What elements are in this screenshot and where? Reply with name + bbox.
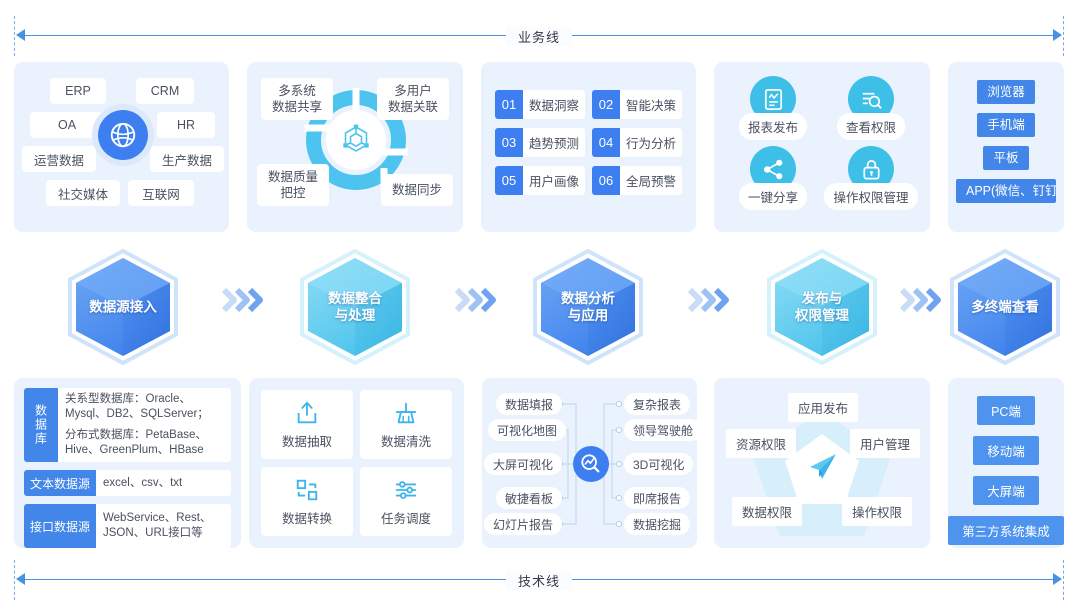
db-value-text-source: excel、csv、txt [96, 470, 231, 496]
db-key-database: 数据库 [24, 388, 58, 462]
db-value-database: 关系型数据库：Oracle、Mysql、DB2、SQLServer； 分布式数据… [58, 388, 231, 462]
analysis-label-03: 趋势预测 [523, 128, 585, 157]
flow-connector-2 [455, 288, 501, 312]
app-pill-big-screen-visual[interactable]: 大屏可视化 [484, 453, 562, 475]
integration-tag-multiuser-relation[interactable]: 多用户 数据关联 [377, 78, 449, 120]
app-pill-slide-report[interactable]: 幻灯片报告 [484, 513, 562, 535]
analysis-item-01[interactable]: 01 数据洞察 [495, 90, 585, 119]
source-tag-hr[interactable]: HR [157, 112, 215, 138]
publish-label-view-permission: 查看权限 [837, 113, 905, 140]
publish-item-view-permission[interactable]: 查看权限 [822, 76, 920, 140]
etl-label-schedule: 任务调度 [381, 508, 431, 527]
analysis-label-01: 数据洞察 [523, 90, 585, 119]
analysis-item-04[interactable]: 04 行为分析 [592, 128, 682, 157]
analysis-label-06: 全局预警 [620, 166, 682, 195]
etl-label-extract: 数据抽取 [282, 431, 332, 450]
business-line-label: 业务线 [506, 27, 572, 46]
analysis-item-03[interactable]: 03 趋势预测 [495, 128, 585, 157]
globe-icon-backdrop [92, 104, 154, 166]
terminal-tag-stack: 浏览器 手机端 平板 APP(微信、钉钉) [948, 80, 1064, 203]
paper-plane-icon [806, 450, 840, 489]
panel-permission-management: 应用发布 资源权限 用户管理 数据权限 操作权限 [714, 378, 930, 548]
source-tag-internet[interactable]: 互联网 [128, 180, 194, 206]
source-tag-erp[interactable]: ERP [50, 78, 106, 104]
axis-tick-right [1063, 16, 1064, 56]
transform-swap-icon [294, 477, 320, 503]
db-row-database[interactable]: 数据库 关系型数据库：Oracle、Mysql、DB2、SQLServer； 分… [24, 388, 231, 462]
etl-label-transform: 数据转换 [282, 508, 332, 527]
analysis-label-02: 智能决策 [620, 90, 682, 119]
app-pill-leader-cockpit[interactable]: 领导驾驶舱 [624, 419, 702, 441]
client-tag-mobile[interactable]: 移动端 [973, 436, 1039, 465]
axis-tick-left [14, 16, 15, 56]
source-tag-crm[interactable]: CRM [136, 78, 194, 104]
panel-database-sources: 数据库 关系型数据库：Oracle、Mysql、DB2、SQLServer； 分… [14, 378, 241, 548]
business-line-axis: 业务线 [14, 16, 1064, 56]
globe-network-icon [98, 110, 148, 160]
arrow-left-icon-bottom [16, 573, 25, 585]
integration-tag-quality-control[interactable]: 数据质量 把控 [257, 164, 329, 206]
panel-data-integration: 多系统 数据共享 多用户 数据关联 数据质量 把控 数据同步 [247, 62, 463, 232]
upload-box-icon [294, 400, 320, 426]
terminal-tag-tablet[interactable]: 平板 [983, 146, 1028, 170]
integration-tag-multisystem-share[interactable]: 多系统 数据共享 [261, 78, 333, 120]
db-value-api-source: WebService、Rest、JSON、URL接口等 [96, 504, 231, 548]
flow-step-data-analysis[interactable]: 数据分析 与应用 [529, 248, 647, 366]
analysis-index-05: 05 [495, 166, 523, 195]
etl-item-transform[interactable]: 数据转换 [261, 467, 353, 536]
flow-step-label-3: 数据分析 与应用 [529, 290, 647, 324]
etl-label-clean: 数据清洗 [381, 431, 431, 450]
flow-step-label-2: 数据整合 与处理 [296, 290, 414, 324]
flow-step-data-integration[interactable]: 数据整合 与处理 [296, 248, 414, 366]
client-tag-third-party[interactable]: 第三方系统集成 [948, 516, 1064, 545]
arrow-right-icon [1053, 29, 1062, 41]
publish-label-operation-permission: 操作权限管理 [824, 183, 917, 210]
publish-item-report[interactable]: 报表发布 [724, 76, 822, 140]
diagram-canvas: 业务线 ERP CRM OA HR 运营数据 生产数据 社交媒体 互联网 [0, 0, 1078, 615]
flow-step-label-1: 数据源接入 [64, 299, 182, 316]
publish-item-share[interactable]: 一键分享 [724, 146, 822, 210]
flow-connector-1 [222, 288, 268, 312]
client-tag-stack: PC端 移动端 大屏端 第三方系统集成 [948, 396, 1064, 545]
permission-pill-data[interactable]: 数据权限 [732, 497, 802, 526]
db-value-relational: 关系型数据库：Oracle、Mysql、DB2、SQLServer； [65, 392, 224, 422]
etl-item-extract[interactable]: 数据抽取 [261, 390, 353, 459]
permission-pill-app-publish[interactable]: 应用发布 [788, 393, 858, 422]
integration-tag-data-sync[interactable]: 数据同步 [381, 174, 453, 206]
flow-connector-3 [688, 288, 734, 312]
db-key-text-source: 文本数据源 [24, 470, 96, 496]
publish-label-share: 一键分享 [739, 183, 807, 210]
flow-step-label-4: 发布与 权限管理 [763, 290, 881, 324]
analytics-search-icon [573, 446, 609, 482]
arrow-left-icon [16, 29, 25, 41]
analysis-item-02[interactable]: 02 智能决策 [592, 90, 682, 119]
technology-line-label: 技术线 [506, 571, 572, 590]
technology-line-axis: 技术线 [14, 560, 1064, 600]
publish-item-operation-permission[interactable]: 操作权限管理 [822, 146, 920, 210]
axis-tick-right-bottom [1063, 560, 1064, 600]
panel-publish-permission: 报表发布 查看权限 [714, 62, 930, 232]
panel-etl-processing: 数据抽取 数据清洗 数据转换 [249, 378, 464, 548]
panel-data-sources: ERP CRM OA HR 运营数据 生产数据 社交媒体 互联网 [14, 62, 229, 232]
db-key-api-source: 接口数据源 [24, 504, 96, 548]
source-tag-operations[interactable]: 运营数据 [22, 146, 96, 172]
flow-connector-4 [900, 288, 946, 312]
etl-item-schedule[interactable]: 任务调度 [360, 467, 452, 536]
app-pill-agile-dashboard[interactable]: 敏捷看板 [496, 487, 562, 509]
permission-pill-user-mgmt[interactable]: 用户管理 [850, 429, 920, 458]
app-pill-data-entry[interactable]: 数据填报 [496, 393, 562, 415]
client-tag-big-screen[interactable]: 大屏端 [973, 476, 1039, 505]
db-value-distributed: 分布式数据库：PetaBase、Hive、GreenPlum、HBase [65, 428, 224, 458]
terminal-tag-app[interactable]: APP(微信、钉钉) [956, 179, 1056, 203]
app-pill-complex-report[interactable]: 复杂报表 [624, 393, 690, 415]
analysis-index-06: 06 [592, 166, 620, 195]
analysis-index-04: 04 [592, 128, 620, 157]
publish-icon-grid: 报表发布 查看权限 [724, 76, 920, 210]
app-pill-visual-map[interactable]: 可视化地图 [488, 419, 566, 441]
app-pill-data-mining[interactable]: 数据挖掘 [624, 513, 690, 535]
db-row-api-source[interactable]: 接口数据源 WebService、Rest、JSON、URL接口等 [24, 504, 231, 548]
panel-client-terminals: PC端 移动端 大屏端 第三方系统集成 [948, 378, 1064, 548]
source-tag-social[interactable]: 社交媒体 [46, 180, 120, 206]
analysis-item-06[interactable]: 06 全局预警 [592, 166, 682, 195]
arrow-right-icon-bottom [1053, 573, 1062, 585]
source-tag-production[interactable]: 生产数据 [150, 146, 224, 172]
db-row-text-source[interactable]: 文本数据源 excel、csv、txt [24, 470, 231, 496]
client-tag-pc[interactable]: PC端 [977, 396, 1035, 425]
analysis-index-03: 03 [495, 128, 523, 157]
flow-step-publish-permission[interactable]: 发布与 权限管理 [763, 248, 881, 366]
terminal-tag-browser[interactable]: 浏览器 [977, 80, 1035, 104]
terminal-tag-mobile[interactable]: 手机端 [977, 113, 1035, 137]
etl-grid: 数据抽取 数据清洗 数据转换 [261, 390, 452, 536]
broom-clean-icon [393, 400, 419, 426]
panel-terminals: 浏览器 手机端 平板 APP(微信、钉钉) [948, 62, 1064, 232]
permission-pill-operation[interactable]: 操作权限 [842, 497, 912, 526]
analysis-label-04: 行为分析 [620, 128, 682, 157]
etl-item-clean[interactable]: 数据清洗 [360, 390, 452, 459]
permission-pill-resource[interactable]: 资源权限 [726, 429, 796, 458]
sliders-settings-icon [393, 477, 419, 503]
analysis-index-02: 02 [592, 90, 620, 119]
analysis-capability-grid: 01 数据洞察 02 智能决策 03 趋势预测 04 行为分析 05 用户画像 … [495, 90, 682, 195]
app-pill-3d-visual[interactable]: 3D可视化 [624, 453, 693, 475]
analysis-item-05[interactable]: 05 用户画像 [495, 166, 585, 195]
flow-step-label-5: 多终端查看 [946, 299, 1064, 316]
axis-tick-left-bottom [14, 560, 15, 600]
publish-label-report: 报表发布 [739, 113, 807, 140]
panel-analysis-applications: 数据填报 可视化地图 大屏可视化 敏捷看板 幻灯片报告 复杂报表 领导驾驶舱 3… [482, 378, 697, 548]
flow-step-data-source-access[interactable]: 数据源接入 [64, 248, 182, 366]
panel-data-analysis: 01 数据洞察 02 智能决策 03 趋势预测 04 行为分析 05 用户画像 … [481, 62, 696, 232]
flow-step-multi-terminal-view[interactable]: 多终端查看 [946, 248, 1064, 366]
app-pill-adhoc-report[interactable]: 即席报告 [624, 487, 690, 509]
analysis-label-05: 用户画像 [523, 166, 585, 195]
analysis-index-01: 01 [495, 90, 523, 119]
